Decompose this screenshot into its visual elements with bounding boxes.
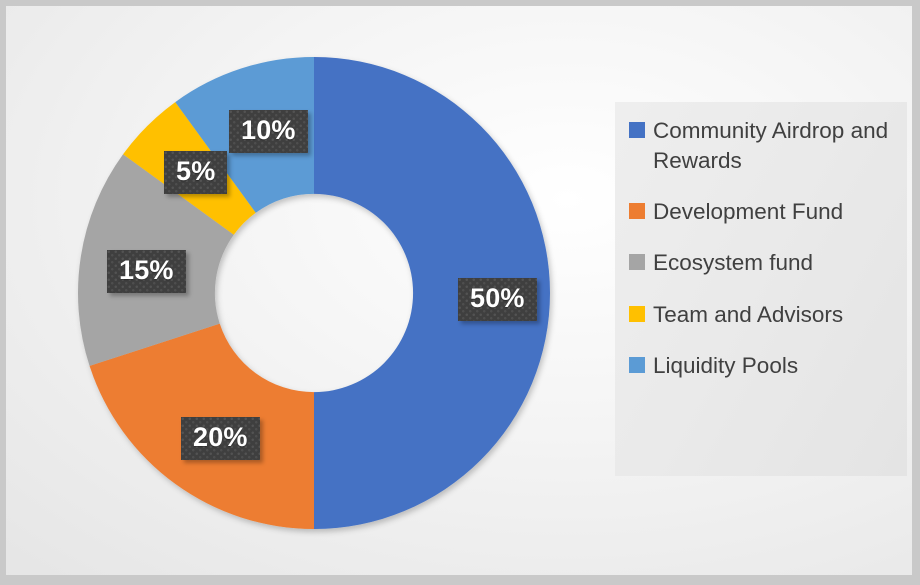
legend-swatch-icon [629,306,645,322]
data-label-value: 10% [241,117,296,144]
legend-item-ecosystem-fund[interactable]: Ecosystem fund [629,248,897,278]
data-label-community-airdrop-and-rewards: 50% [458,278,537,321]
legend-item-label: Liquidity Pools [653,351,798,381]
legend-item-community-airdrop-and-rewards[interactable]: Community Airdrop and Rewards [629,116,897,176]
data-label-value: 50% [470,285,525,312]
legend-item-label: Team and Advisors [653,300,843,330]
legend-item-label: Development Fund [653,197,843,227]
chart-frame: 50% 20% 15% 5% 10% Community Airdrop and… [0,0,920,585]
data-label-value: 20% [193,424,248,451]
data-label-value: 5% [176,158,215,185]
data-label-liquidity-pools: 10% [229,110,308,153]
legend-item-label: Community Airdrop and Rewards [653,116,897,176]
data-label-value: 15% [119,257,174,284]
data-label-ecosystem-fund: 15% [107,250,186,293]
legend-swatch-icon [629,122,645,138]
chart-plot-area[interactable]: 50% 20% 15% 5% 10% Community Airdrop and… [6,6,912,575]
chart-legend[interactable]: Community Airdrop and RewardsDevelopment… [615,102,907,476]
legend-item-liquidity-pools[interactable]: Liquidity Pools [629,351,897,381]
legend-item-development-fund[interactable]: Development Fund [629,197,897,227]
legend-item-team-and-advisors[interactable]: Team and Advisors [629,300,897,330]
legend-swatch-icon [629,203,645,219]
legend-swatch-icon [629,357,645,373]
legend-item-label: Ecosystem fund [653,248,813,278]
legend-swatch-icon [629,254,645,270]
data-label-development-fund: 20% [181,417,260,460]
data-label-team-and-advisors: 5% [164,151,227,194]
